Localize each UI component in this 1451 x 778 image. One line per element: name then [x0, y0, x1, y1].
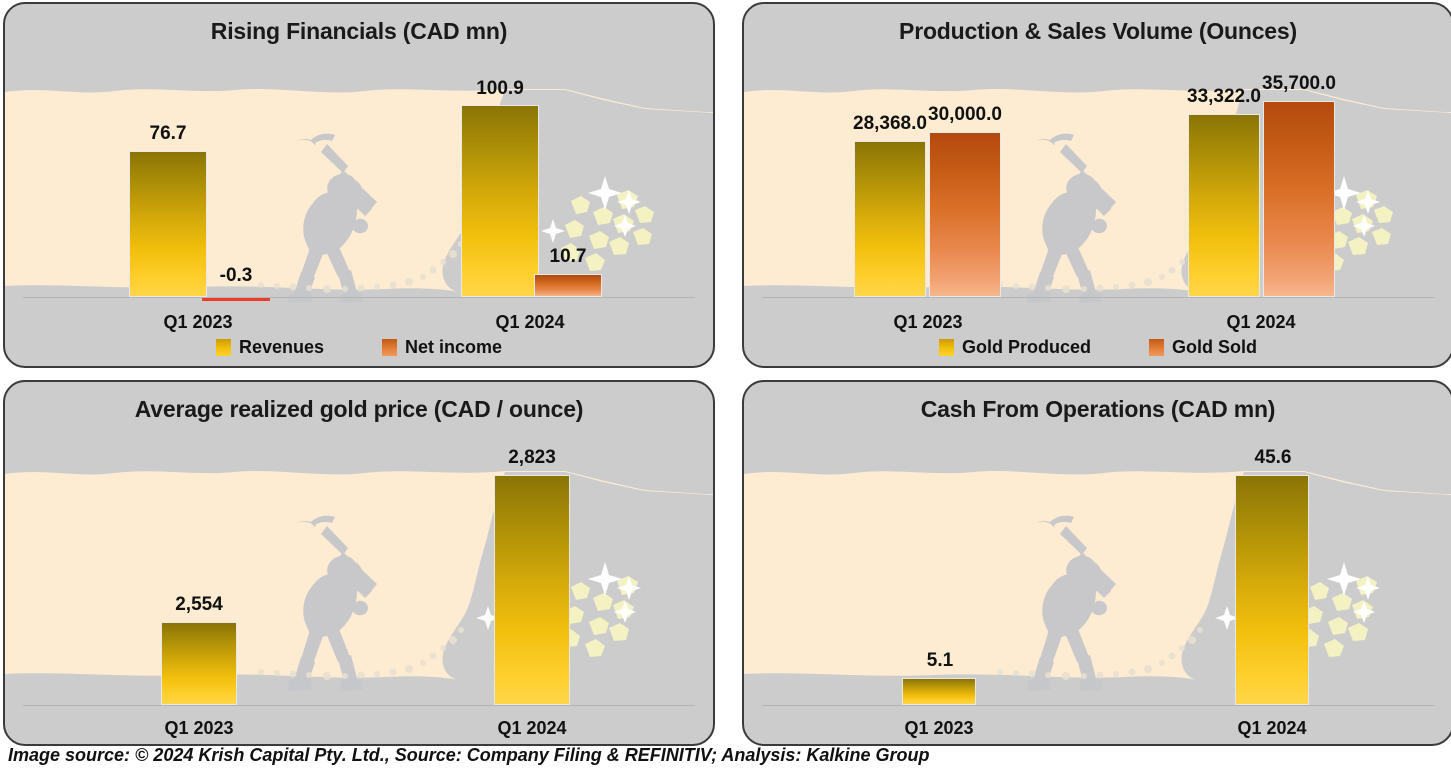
baseline-axis — [23, 297, 695, 298]
chart-content-production-sales-volume: Production & Sales Volume (Ounces) 28,36… — [744, 4, 1451, 366]
category-label-q1-2023: Q1 2023 — [110, 718, 288, 739]
legend-swatch-icon-net-income — [382, 339, 397, 356]
bar-label-gold-price-q1-2024: 2,823 — [473, 447, 591, 469]
legend-label-gold-produced: Gold Produced — [962, 337, 1091, 358]
chart-title: Production & Sales Volume (Ounces) — [744, 18, 1451, 45]
bar-label-gold-sold-q1-2023: 30,000.0 — [905, 104, 1025, 126]
legend-swatch-icon-gold-produced — [939, 339, 954, 356]
chart-title: Cash From Operations (CAD mn) — [744, 396, 1451, 423]
chart-panel-rising-financials: Rising Financials (CAD mn) 76.7 -0.3 100… — [3, 2, 715, 368]
category-label-q1-2023: Q1 2023 — [109, 312, 287, 333]
chart-panel-cash-from-operations: Cash From Operations (CAD mn) 5.1 45.6 Q… — [742, 380, 1451, 746]
chart-content-average-realized-gold-price: Average realized gold price (CAD / ounce… — [5, 382, 713, 744]
chart-content-cash-from-operations: Cash From Operations (CAD mn) 5.1 45.6 Q… — [744, 382, 1451, 744]
chart-content-rising-financials: Rising Financials (CAD mn) 76.7 -0.3 100… — [5, 4, 713, 366]
category-label-q1-2023: Q1 2023 — [839, 312, 1017, 333]
category-label-q1-2024: Q1 2024 — [441, 312, 619, 333]
bar-gold-sold-q1-2023 — [929, 132, 1001, 297]
bar-label-cash-q1-2023: 5.1 — [881, 650, 999, 672]
chart-title: Rising Financials (CAD mn) — [5, 18, 713, 45]
category-label-q1-2024: Q1 2024 — [443, 718, 621, 739]
bar-label-net-income-q1-2024: 10.7 — [509, 246, 627, 268]
chart-panel-average-realized-gold-price: Average realized gold price (CAD / ounce… — [3, 380, 715, 746]
bar-gold-produced-q1-2023 — [854, 141, 926, 297]
legend-swatch-icon-revenues — [216, 339, 231, 356]
panel-grid: Rising Financials (CAD mn) 76.7 -0.3 100… — [0, 0, 1451, 740]
bar-net-income-q1-2024 — [534, 274, 602, 297]
bar-label-revenues-q1-2024: 100.9 — [441, 78, 559, 100]
legend-item-revenues[interactable]: Revenues — [216, 337, 324, 358]
bar-net-income-q1-2023 — [202, 298, 270, 301]
legend-label-revenues: Revenues — [239, 337, 324, 358]
bar-label-net-income-q1-2023: -0.3 — [177, 265, 295, 287]
baseline-axis — [762, 705, 1434, 706]
bar-revenues-q1-2024 — [461, 105, 539, 297]
chart-legend: Gold Produced Gold Sold — [744, 337, 1451, 358]
bar-gold-price-q1-2023 — [161, 622, 237, 705]
bar-gold-sold-q1-2024 — [1263, 101, 1335, 297]
baseline-axis — [23, 705, 695, 706]
bar-label-gold-price-q1-2023: 2,554 — [140, 594, 258, 616]
legend-item-net-income[interactable]: Net income — [382, 337, 502, 358]
image-source-footer: Image source: © 2024 Krish Capital Pty. … — [8, 745, 929, 766]
category-label-q1-2024: Q1 2024 — [1172, 312, 1350, 333]
chart-legend: Revenues Net income — [5, 337, 713, 358]
bar-gold-price-q1-2024 — [494, 475, 570, 705]
bar-label-gold-sold-q1-2024: 35,700.0 — [1239, 73, 1359, 95]
chart-title: Average realized gold price (CAD / ounce… — [5, 396, 713, 423]
category-label-q1-2023: Q1 2023 — [850, 718, 1028, 739]
bar-label-revenues-q1-2023: 76.7 — [109, 123, 227, 145]
bar-cash-q1-2023 — [902, 678, 976, 705]
legend-swatch-icon-gold-sold — [1149, 339, 1164, 356]
legend-label-gold-sold: Gold Sold — [1172, 337, 1257, 358]
bar-cash-q1-2024 — [1235, 475, 1309, 705]
category-label-q1-2024: Q1 2024 — [1183, 718, 1361, 739]
chart-panel-production-sales-volume: Production & Sales Volume (Ounces) 28,36… — [742, 2, 1451, 368]
legend-item-gold-produced[interactable]: Gold Produced — [939, 337, 1091, 358]
baseline-axis — [762, 297, 1434, 298]
legend-item-gold-sold[interactable]: Gold Sold — [1149, 337, 1257, 358]
legend-label-net-income: Net income — [405, 337, 502, 358]
infographic-board: Rising Financials (CAD mn) 76.7 -0.3 100… — [0, 0, 1451, 778]
bar-label-cash-q1-2024: 45.6 — [1214, 447, 1332, 469]
bar-gold-produced-q1-2024 — [1188, 114, 1260, 297]
